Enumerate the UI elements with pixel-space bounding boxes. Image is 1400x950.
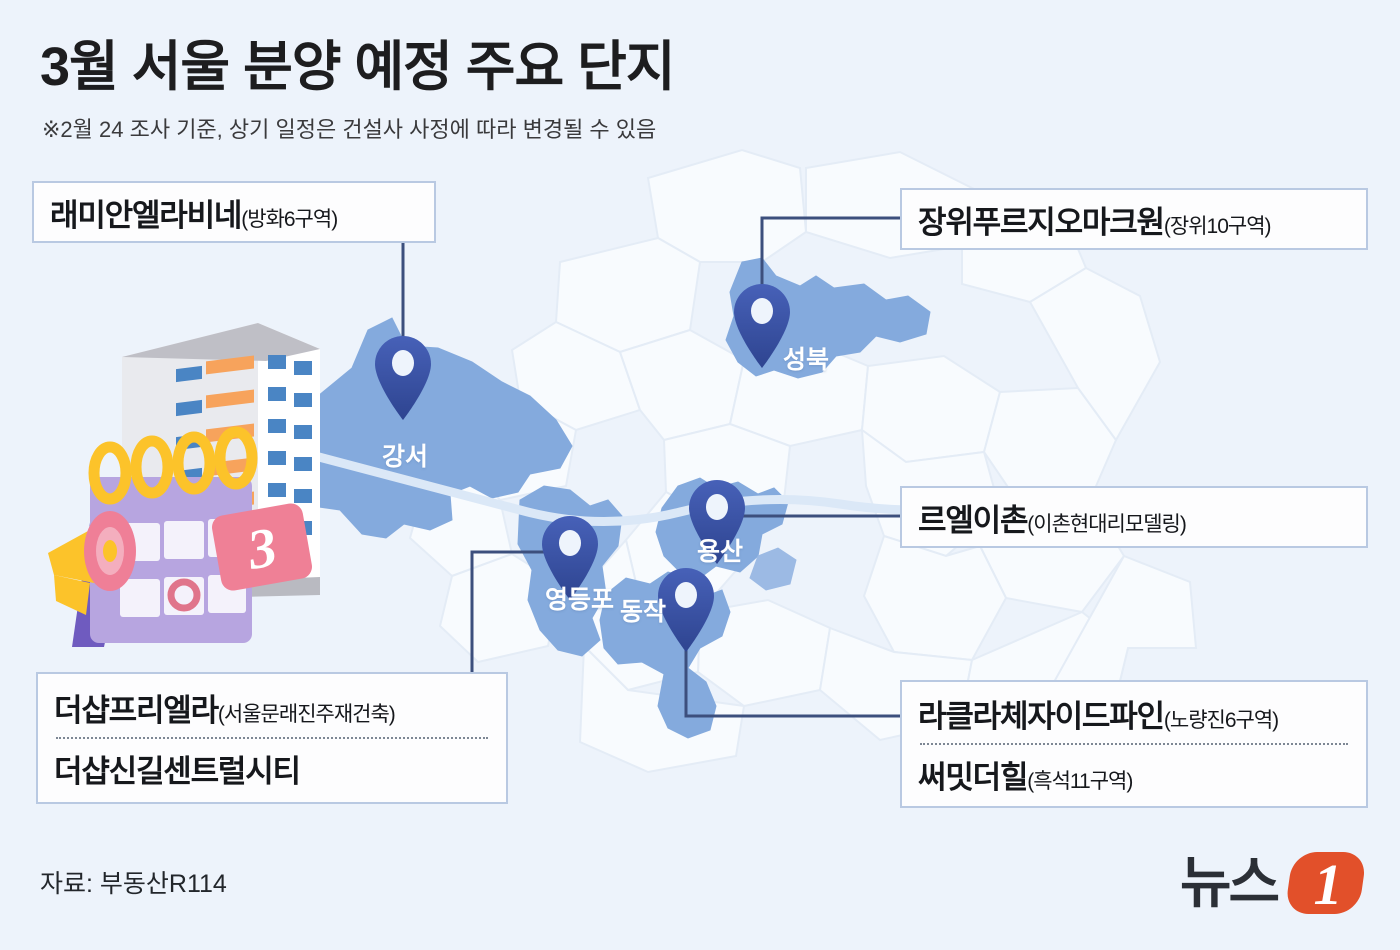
- callout-yongsan[interactable]: 르엘이촌 (이촌현대리모델링): [900, 486, 1368, 548]
- news1-logo: 뉴스 1: [1178, 846, 1378, 918]
- complex-name: 써밋더힐: [918, 752, 1027, 797]
- infographic-canvas: 강서 성북 영등포 동작 용산: [0, 0, 1400, 950]
- entry-divider: [56, 737, 488, 739]
- complex-detail: (장위10구역): [1164, 210, 1271, 240]
- complex-name: 라클라체자이드파인: [918, 691, 1164, 736]
- source-text: 자료: 부동산R114: [40, 864, 227, 900]
- callout-entry: 르엘이촌 (이촌현대리모델링): [918, 495, 1350, 540]
- page-title: 3월 서울 분양 예정 주요 단지: [40, 22, 675, 101]
- apartment-calendar-illustration: 3: [30, 295, 340, 660]
- complex-name: 더샵프리엘라: [54, 685, 218, 730]
- complex-detail: (서울문래진주재건축): [218, 698, 395, 728]
- callout-gangseo[interactable]: 래미안엘라비네 (방화6구역): [32, 181, 436, 243]
- callout-dongjak[interactable]: 라클라체자이드파인 (노량진6구역) 써밋더힐 (흑석11구역): [900, 680, 1368, 808]
- callout-seongbuk[interactable]: 장위푸르지오마크원 (장위10구역): [900, 188, 1368, 250]
- complex-detail: (방화6구역): [241, 203, 337, 233]
- complex-name: 더샵신길센트럴시티: [54, 746, 300, 791]
- entry-divider: [920, 743, 1348, 745]
- complex-name: 래미안엘라비네: [50, 190, 241, 235]
- callout-entry: 래미안엘라비네 (방화6구역): [50, 190, 418, 235]
- complex-detail: (노량진6구역): [1164, 704, 1278, 734]
- month-tag: 3: [210, 502, 314, 593]
- complex-detail: (흑석11구역): [1027, 765, 1132, 795]
- complex-name: 장위푸르지오마크원: [918, 197, 1164, 242]
- callout-entry: 더샵신길센트럴시티: [54, 746, 490, 791]
- callout-entry: 라클라체자이드파인 (노량진6구역): [918, 691, 1350, 736]
- logo-number: 1: [1314, 852, 1343, 917]
- callout-entry: 장위푸르지오마크원 (장위10구역): [918, 197, 1350, 242]
- complex-name: 르엘이촌: [918, 495, 1027, 540]
- complex-detail: (이촌현대리모델링): [1027, 508, 1186, 538]
- callout-yeongdeungpo[interactable]: 더샵프리엘라 (서울문래진주재건축) 더샵신길센트럴시티: [36, 672, 508, 804]
- callout-entry: 써밋더힐 (흑석11구역): [918, 752, 1350, 797]
- callout-entry: 더샵프리엘라 (서울문래진주재건축): [54, 685, 490, 730]
- page-subtitle: ※2월 24 조사 기준, 상기 일정은 건설사 사정에 따라 변경될 수 있음: [42, 112, 656, 144]
- logo-wordmark: 뉴스: [1180, 851, 1279, 914]
